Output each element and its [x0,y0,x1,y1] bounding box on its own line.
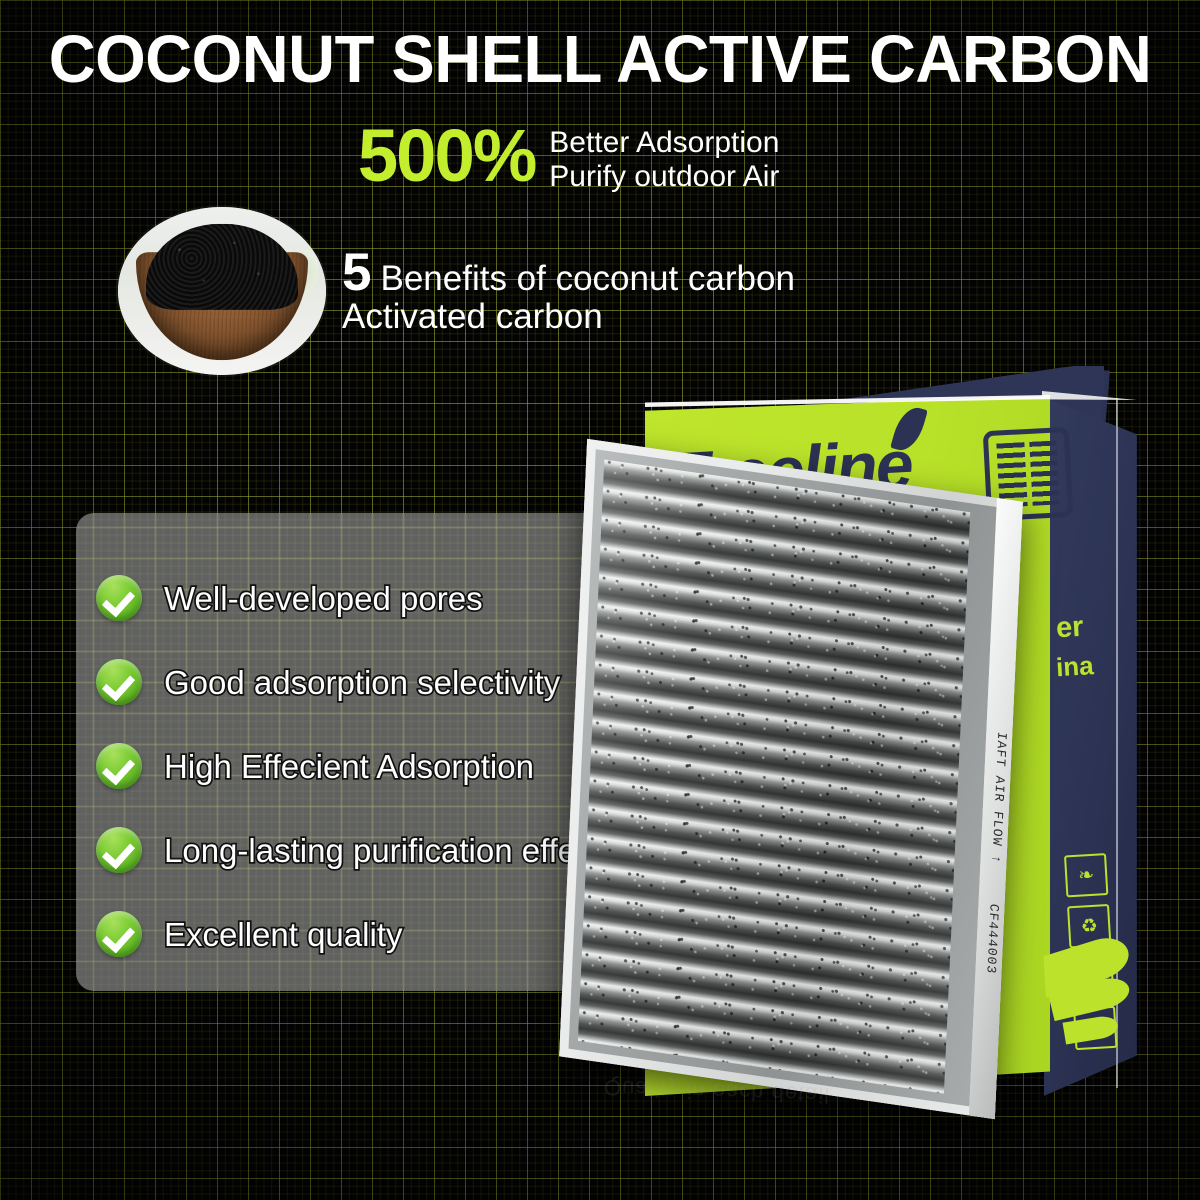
list-item-label: Long-lasting purification effect [164,834,602,867]
cabin-air-filter: IAFT AIR FLOW ↑ CF444003 [559,439,1023,1119]
check-icon [96,575,142,621]
coconut-carbon-photo [118,207,326,375]
percent-value: 500% [358,122,536,190]
claim-line-2: Purify outdoor Air [549,160,779,194]
part-number-label: CF444003 [978,902,1001,975]
claim-line-1: Better Adsorption [549,126,779,160]
list-item-label: High Effecient Adsorption [164,750,534,783]
benefits-count: 5 [342,246,371,299]
check-icon [96,743,142,789]
air-flow-label: IAFT AIR FLOW ↑ [983,730,1009,865]
filter-frame [559,439,1023,1119]
check-icon [96,911,142,957]
grill-column [1029,440,1060,505]
benefits-heading: 5 Benefits of coconut carbon Activated c… [342,246,795,336]
list-item-label: Excellent quality [164,918,402,951]
product-infographic: COCONUT SHELL ACTIVE CARBON 500% Better … [0,0,1200,1200]
carbon-speckle-texture [578,459,970,1093]
leaf-icon: ❧ [1064,853,1108,897]
filter-pleats [578,459,970,1093]
benefits-heading-text: Benefits of coconut carbon [380,260,794,299]
check-icon [96,827,142,873]
benefits-heading-line-1: 5 Benefits of coconut carbon [342,246,795,299]
box-side-swoosh-graphic [1042,923,1146,1068]
box-side-label-2: ina [1055,648,1137,684]
check-icon [96,659,142,705]
list-item-label: Well-developed pores [164,582,483,615]
swoosh-stroke [1063,1014,1120,1045]
claim-lines: Better Adsorption Purify outdoor Air [549,126,779,193]
benefits-heading-line-2: Activated carbon [342,297,795,336]
list-item-label: Good adsorption selectivity [164,666,560,699]
adsorption-claim: 500% Better Adsorption Purify outdoor Ai… [356,122,779,193]
box-side-label-1: er [1055,608,1137,646]
page-title: COCONUT SHELL ACTIVE CARBON [18,26,1182,93]
